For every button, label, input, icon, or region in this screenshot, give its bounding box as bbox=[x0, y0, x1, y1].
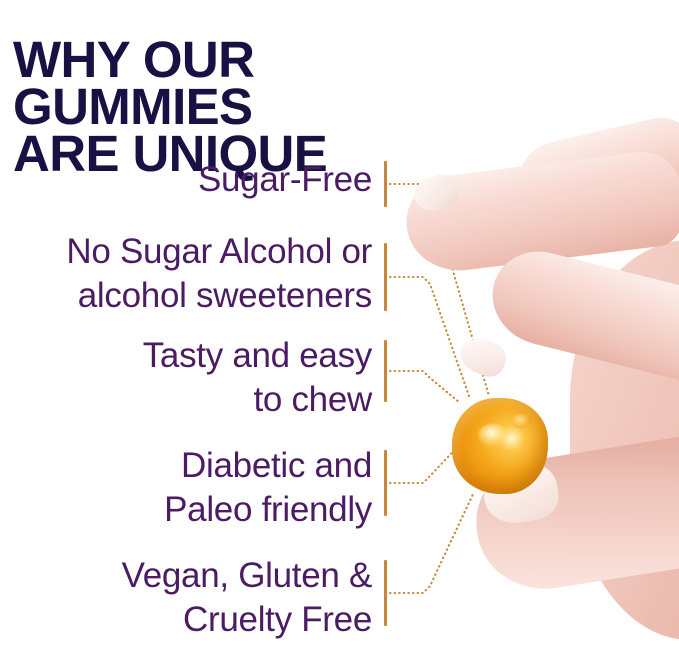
feature-item-vegan-gluten-cruelty-free: Vegan, Gluten & Cruelty Free bbox=[0, 554, 372, 642]
gummy-product bbox=[452, 398, 548, 494]
pinching-fingernail bbox=[455, 333, 510, 382]
feature-item-diabetic-paleo: Diabetic and Paleo friendly bbox=[0, 444, 372, 532]
feature-item-sugar-free: Sugar-Free bbox=[0, 158, 372, 202]
feature-item-no-sugar-alcohol: No Sugar Alcohol or alcohol sweeteners bbox=[0, 230, 372, 318]
feature-list: Sugar-Free No Sugar Alcohol or alcohol s… bbox=[0, 0, 372, 647]
feature-tick-mark-5 bbox=[384, 560, 387, 626]
feature-item-tasty-easy-chew: Tasty and easy to chew bbox=[0, 334, 372, 422]
infographic-canvas: Why Our Gummies Are Unique Sugar-Free No… bbox=[0, 0, 679, 647]
feature-tick-mark-3 bbox=[384, 340, 387, 402]
hand-image bbox=[400, 120, 679, 647]
feature-tick-mark-4 bbox=[384, 450, 387, 516]
gummy-nub bbox=[512, 414, 532, 429]
feature-tick-mark-2 bbox=[384, 243, 387, 311]
feature-tick-mark-1 bbox=[384, 161, 387, 207]
gummy-highlight bbox=[478, 424, 508, 446]
